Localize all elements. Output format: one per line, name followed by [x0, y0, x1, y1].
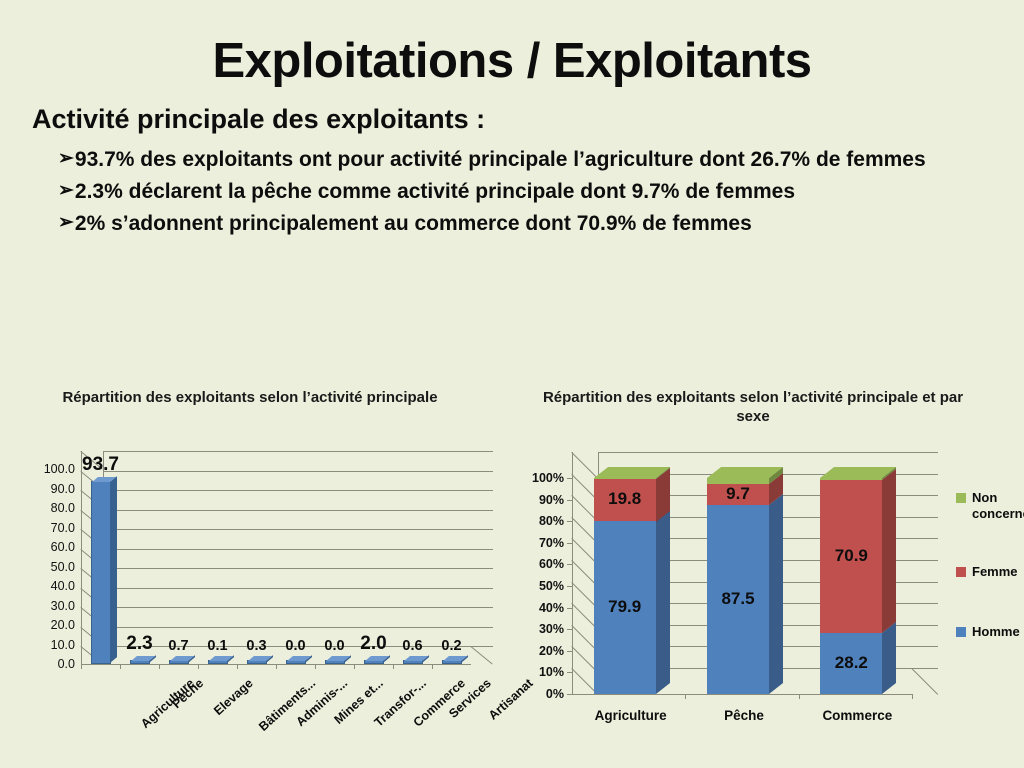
y-axis-tick-label: 40%	[508, 601, 564, 615]
x-axis-label: Elevage	[211, 676, 255, 718]
x-axis-label: Pêche	[689, 708, 799, 723]
gridline	[103, 451, 493, 452]
x-axis-tick	[685, 694, 686, 699]
bar-value-label: 0.2	[422, 638, 482, 654]
y-axis-tick-label: 100%	[508, 471, 564, 485]
arrow-bullet-icon: ➢	[58, 177, 74, 206]
legend-item-homme[interactable]: Homme	[956, 624, 1024, 640]
segment-3d-side	[882, 469, 896, 633]
y-axis-tick-label: 30%	[508, 622, 564, 636]
y-axis-tick-label: 70%	[508, 536, 564, 550]
chart-title: Répartition des exploitants selon l’acti…	[40, 380, 460, 407]
stack-segment-non-concern-agriculture[interactable]	[594, 478, 656, 479]
y-axis-tick-label: 20.0	[18, 618, 75, 632]
x-axis-tick	[912, 694, 913, 699]
segment-3d-side	[882, 622, 896, 694]
bar-elevage[interactable]	[169, 660, 189, 664]
y-axis-tick-label: 80.0	[18, 501, 75, 515]
segment-value-label: 79.9	[594, 597, 656, 617]
x-axis-tick	[120, 664, 121, 669]
gridline	[103, 510, 493, 511]
bar-mines-et[interactable]	[286, 660, 306, 664]
x-axis-tick	[276, 664, 277, 669]
segment-value-label: 19.8	[594, 489, 656, 509]
y-axis-tick-label: 90.0	[18, 482, 75, 496]
x-axis-tick	[393, 664, 394, 669]
page-title: Exploitations / Exploitants	[0, 0, 1024, 87]
legend-label: Femme	[972, 564, 1018, 580]
slide-subtitle: Activité principale des exploitants :	[32, 105, 1024, 135]
x-axis-tick	[198, 664, 199, 669]
bar-artisanat[interactable]	[442, 660, 462, 664]
y-axis-tick-label: 60.0	[18, 540, 75, 554]
bar-p-che[interactable]	[130, 660, 150, 664]
y-axis-line	[81, 451, 82, 664]
gridline	[103, 607, 493, 608]
bar-b-timents[interactable]	[208, 660, 228, 664]
bar-services[interactable]	[403, 660, 423, 664]
y-axis-tick-label: 10%	[508, 665, 564, 679]
bar-value-label: 93.7	[71, 454, 131, 476]
stack-segment-non-concern-p-che[interactable]	[707, 478, 769, 484]
y-axis-tick-label: 40.0	[18, 579, 75, 593]
gridline	[103, 490, 493, 491]
bar-adminis[interactable]	[247, 660, 267, 664]
segment-value-label: 87.5	[707, 589, 769, 609]
y-axis-tick-label: 20%	[508, 644, 564, 658]
y-axis-tick-label: 80%	[508, 514, 564, 528]
floor-front-edge	[572, 694, 912, 695]
list-item-label: 2.3% déclarent la pêche comme activité p…	[75, 177, 1008, 207]
segment-3d-side	[769, 494, 783, 694]
depth-connector	[571, 452, 598, 479]
bar-transfor[interactable]	[325, 660, 345, 664]
y-axis-tick-label: 70.0	[18, 521, 75, 535]
floor-right-edge	[911, 668, 938, 695]
gridline	[103, 627, 493, 628]
legend-item-non-concern[interactable]: Non concerné	[956, 490, 1024, 523]
segment-value-label: 70.9	[820, 546, 882, 566]
legend-swatch-icon	[956, 493, 966, 503]
legend-label: Non concerné	[972, 490, 1024, 523]
y-axis-tick-label: 10.0	[18, 638, 75, 652]
y-axis-tick-label: 50%	[508, 579, 564, 593]
y-axis-tick-label: 60%	[508, 557, 564, 571]
y-axis-tick-label: 90%	[508, 493, 564, 507]
y-axis-tick-label: 0.0	[18, 657, 75, 671]
gridline	[103, 549, 493, 550]
gridline	[103, 588, 493, 589]
x-axis-tick	[159, 664, 160, 669]
segment-value-label: 9.7	[707, 484, 769, 504]
y-axis-tick-label: 100.0	[18, 462, 75, 476]
legend-item-femme[interactable]: Femme	[956, 564, 1024, 580]
x-axis-tick	[81, 664, 82, 669]
x-axis-tick	[237, 664, 238, 669]
chart-title: Répartition des exploitants selon l’acti…	[538, 380, 968, 426]
plot-top-edge	[598, 452, 938, 453]
list-item-label: 93.7% des exploitants ont pour activité …	[75, 145, 1008, 175]
segment-value-label: 28.2	[820, 653, 882, 673]
y-axis-tick-label: 30.0	[18, 599, 75, 613]
chart-activite-principale: Répartition des exploitants selon l’acti…	[18, 380, 488, 768]
x-axis-tick	[354, 664, 355, 669]
list-item: ➢ 2.3% déclarent la pêche comme activité…	[58, 177, 1008, 207]
arrow-bullet-icon: ➢	[58, 145, 74, 174]
y-axis-tick-label: 50.0	[18, 560, 75, 574]
y-axis-tick-label: 0%	[508, 687, 564, 701]
chart-activite-par-sexe: Répartition des exploitants selon l’acti…	[508, 380, 1024, 768]
list-item: ➢ 2% s’adonnent principalement au commer…	[58, 209, 1008, 239]
gridline	[103, 568, 493, 569]
legend-swatch-icon	[956, 627, 966, 637]
plot-area: 100%90%80%70%60%50%40%30%20%10%0%79.919.…	[508, 446, 1024, 746]
bar-agriculture[interactable]	[91, 481, 111, 664]
bullet-list: ➢ 93.7% des exploitants ont pour activit…	[58, 145, 1008, 238]
x-axis-tick	[432, 664, 433, 669]
gridline	[103, 471, 493, 472]
x-axis-tick	[799, 694, 800, 699]
y-axis-line	[572, 452, 573, 694]
stack-segment-non-concern-commerce[interactable]	[820, 478, 882, 480]
x-axis-tick	[315, 664, 316, 669]
bar-commerce[interactable]	[364, 660, 384, 664]
legend-swatch-icon	[956, 567, 966, 577]
gridline	[103, 529, 493, 530]
segment-3d-side	[656, 510, 670, 694]
legend-label: Homme	[972, 624, 1020, 640]
arrow-bullet-icon: ➢	[58, 209, 74, 238]
charts-row: Répartition des exploitants selon l’acti…	[0, 380, 1024, 768]
plot-area: 100.090.080.070.060.050.040.030.020.010.…	[18, 446, 488, 746]
x-axis-label: Agriculture	[576, 708, 686, 723]
x-axis-label: Commerce	[802, 708, 912, 723]
list-item: ➢ 93.7% des exploitants ont pour activit…	[58, 145, 1008, 175]
list-item-label: 2% s’adonnent principalement au commerce…	[75, 209, 1008, 239]
